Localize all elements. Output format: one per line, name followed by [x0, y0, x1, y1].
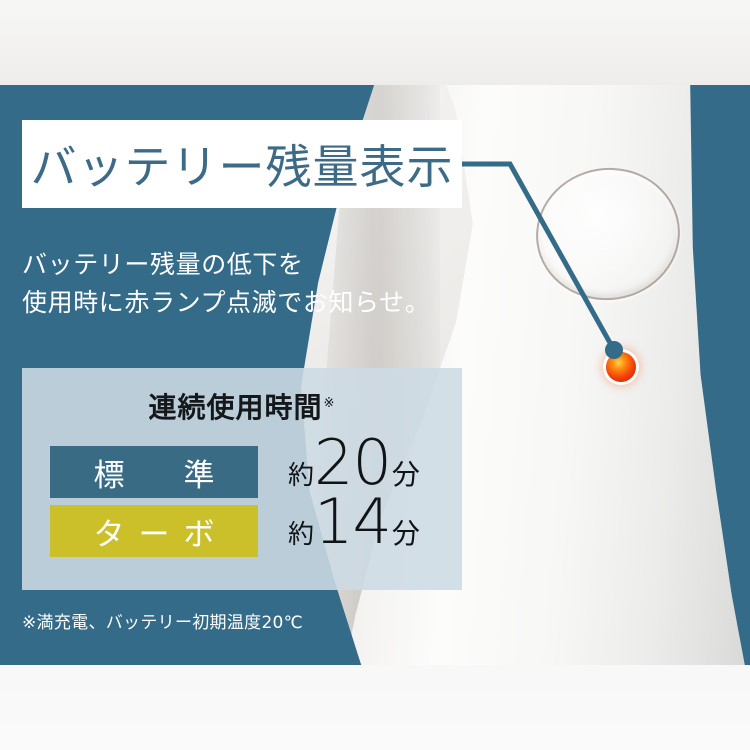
feature-title-box: バッテリー残量表示 [22, 120, 462, 208]
spec-heading-label: 連続使用時間 [149, 391, 323, 424]
spec-panel: 連続使用時間※ 標 準 ターボ 約 20 分 約 14 分 [22, 368, 462, 590]
top-white-strip [0, 0, 750, 85]
runtime-standard-unit: 分 [392, 453, 420, 493]
runtime-standard-approx: 約 [288, 455, 314, 492]
footnote-text: ※満充電、バッテリー初期温度20℃ [22, 608, 303, 633]
runtime-turbo-unit: 分 [392, 512, 420, 552]
product-feature-graphic: バッテリー残量表示 バッテリー残量の低下を 使用時に赤ランプ点滅でお知らせ。 連… [0, 0, 750, 750]
bottom-white-strip [0, 665, 750, 750]
page-title: バッテリー残量表示 [31, 131, 454, 197]
description-line-2: 使用時に赤ランプ点滅でお知らせ。 [22, 284, 452, 322]
mode-standard-label: 標 準 [80, 450, 229, 495]
runtime-turbo-value: 14 [314, 489, 391, 554]
mode-turbo-label: ターボ [80, 509, 229, 554]
runtime-value-column: 約 20 分 約 14 分 [284, 430, 464, 554]
mode-chip-turbo: ターボ [50, 505, 258, 557]
runtime-turbo-approx: 約 [288, 514, 314, 551]
spec-heading-footnote-mark: ※ [324, 396, 336, 411]
feature-description: バッテリー残量の低下を 使用時に赤ランプ点滅でお知らせ。 [22, 246, 452, 321]
mode-label-column: 標 準 ターボ [50, 446, 258, 557]
spec-heading: 連続使用時間※ [22, 386, 462, 426]
mode-chip-standard: 標 準 [50, 446, 258, 498]
description-line-1: バッテリー残量の低下を [22, 246, 452, 284]
runtime-row-turbo: 約 14 分 [288, 489, 464, 554]
battery-indicator-lamp-icon [606, 352, 636, 382]
